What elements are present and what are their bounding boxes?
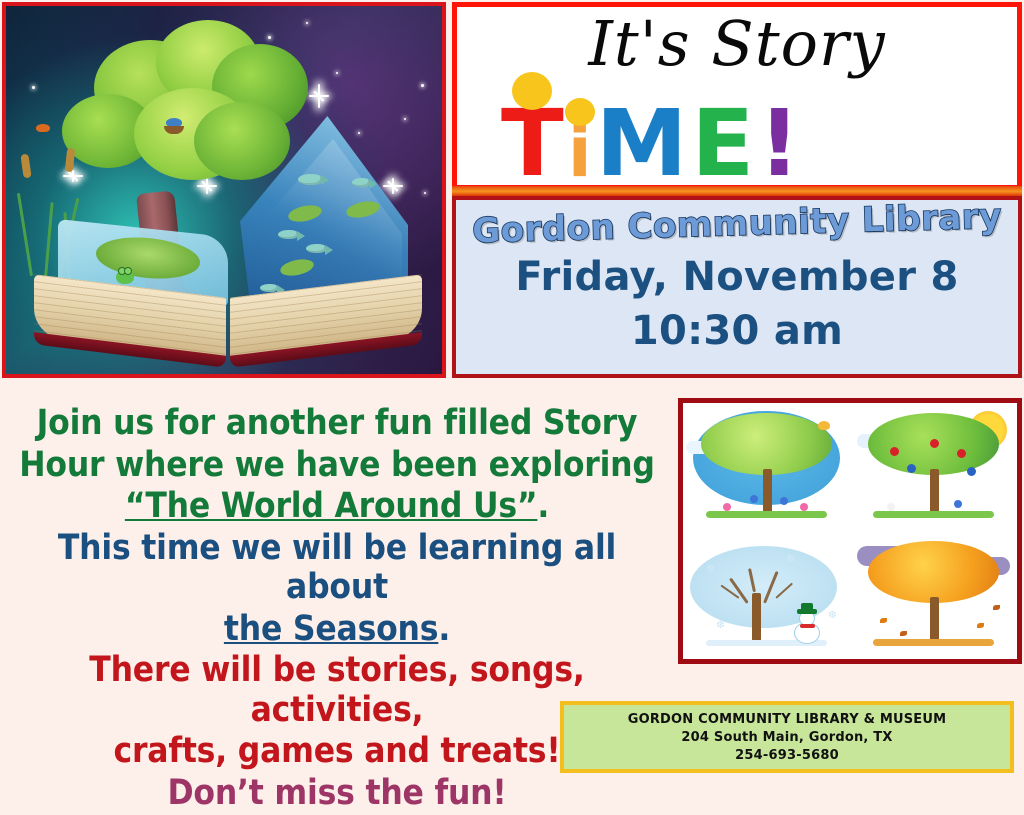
spring-crown (701, 413, 831, 474)
snowman-scarf (800, 624, 815, 628)
summer-trunk (930, 469, 939, 513)
spring-trunk (763, 469, 772, 513)
falling-leaf-icon (880, 618, 887, 623)
page-fold-highlight (252, 132, 402, 302)
fish (298, 174, 322, 185)
body-line-4: This time we will be learning all about (6, 529, 668, 608)
contact-address: 204 South Main, Gordon, TX (681, 730, 892, 745)
snowflake-icon: ❆ (706, 564, 714, 575)
snowflake-icon: ❆ (787, 554, 795, 565)
body-line-5: the Seasons. (6, 610, 668, 650)
fish (306, 244, 326, 253)
star (268, 36, 271, 39)
sparkle (318, 84, 320, 108)
contact-info-box: GORDON COMMUNITY LIBRARY & MUSEUM 204 So… (560, 701, 1014, 773)
snowflake-icon: ❆ (828, 610, 836, 621)
contact-org-name: GORDON COMMUNITY LIBRARY & MUSEUM (628, 712, 947, 727)
flower-icon (800, 503, 808, 511)
time-letter-exclamation: ! (758, 106, 800, 181)
leaf-litter (873, 639, 993, 646)
body-line-1: Join us for another fun filled Story (6, 404, 668, 444)
snowman-icon (794, 604, 820, 644)
time-wordmark: T i M E ! (501, 106, 800, 181)
time-letter-t: T (501, 106, 564, 181)
star (32, 86, 35, 89)
seasons-suffix: . (438, 609, 450, 649)
yellow-dot-icon (512, 72, 552, 110)
snowman-hat-brim (797, 609, 817, 614)
flower-icon (780, 497, 788, 505)
season-spring (683, 403, 850, 531)
apple-icon (967, 467, 976, 476)
butterfly-icon (818, 421, 830, 430)
fish (260, 284, 278, 292)
apple-icon (890, 447, 899, 456)
body-line-8: Don’t miss the fun! (6, 774, 668, 814)
body-line-2: Hour where we have been exploring (6, 446, 668, 486)
star (336, 72, 338, 74)
frog (116, 270, 134, 284)
grass (706, 511, 826, 518)
yellow-dot-icon (565, 98, 595, 126)
fish (278, 230, 298, 239)
open-book (30, 114, 426, 364)
contact-phone: 254-693-5680 (735, 748, 839, 763)
library-info-box: Gordon Community Library Friday, Novembe… (452, 196, 1022, 378)
story-time-flyer: It's Story T i M E ! Gordon Community Li… (0, 0, 1024, 791)
winter-trunk (752, 593, 761, 641)
its-story-headline: It's Story (457, 11, 1017, 76)
autumn-trunk (930, 597, 939, 641)
apple-icon (957, 449, 966, 458)
flower-icon (723, 503, 731, 511)
orange-divider-stripe (452, 186, 1022, 196)
falling-leaf-icon (977, 623, 984, 628)
star (421, 84, 424, 87)
autumn-crown (868, 541, 998, 602)
apple-icon (930, 439, 939, 448)
flower-icon (887, 503, 895, 511)
fish (352, 178, 370, 187)
event-date: Friday, November 8 (456, 254, 1018, 300)
falling-leaf-icon (900, 631, 907, 636)
four-seasons-illustration: ❆ ❆ ❆ ❆ (678, 398, 1022, 664)
time-letter-e: E (691, 106, 754, 181)
season-summer (850, 403, 1017, 531)
flower-icon (750, 495, 758, 503)
library-name: Gordon Community Library (456, 196, 1019, 252)
star (306, 22, 308, 24)
time-letter-m: M (596, 106, 688, 181)
storybook-illustration (2, 2, 446, 378)
snowflake-icon: ❆ (716, 620, 724, 631)
theme-emphasis: “The World Around Us” (125, 486, 538, 526)
event-time: 10:30 am (456, 308, 1018, 354)
theme-suffix: . (537, 486, 549, 526)
season-winter: ❆ ❆ ❆ ❆ (683, 531, 850, 659)
falling-leaf-icon (993, 605, 1000, 610)
season-autumn (850, 531, 1017, 659)
grass (873, 511, 993, 518)
seasons-emphasis: the Seasons (224, 609, 438, 649)
time-letter-i: i (568, 124, 592, 181)
flower-icon (954, 500, 962, 508)
story-time-banner: It's Story T i M E ! (452, 2, 1022, 190)
body-line-3: “The World Around Us”. (6, 487, 668, 527)
